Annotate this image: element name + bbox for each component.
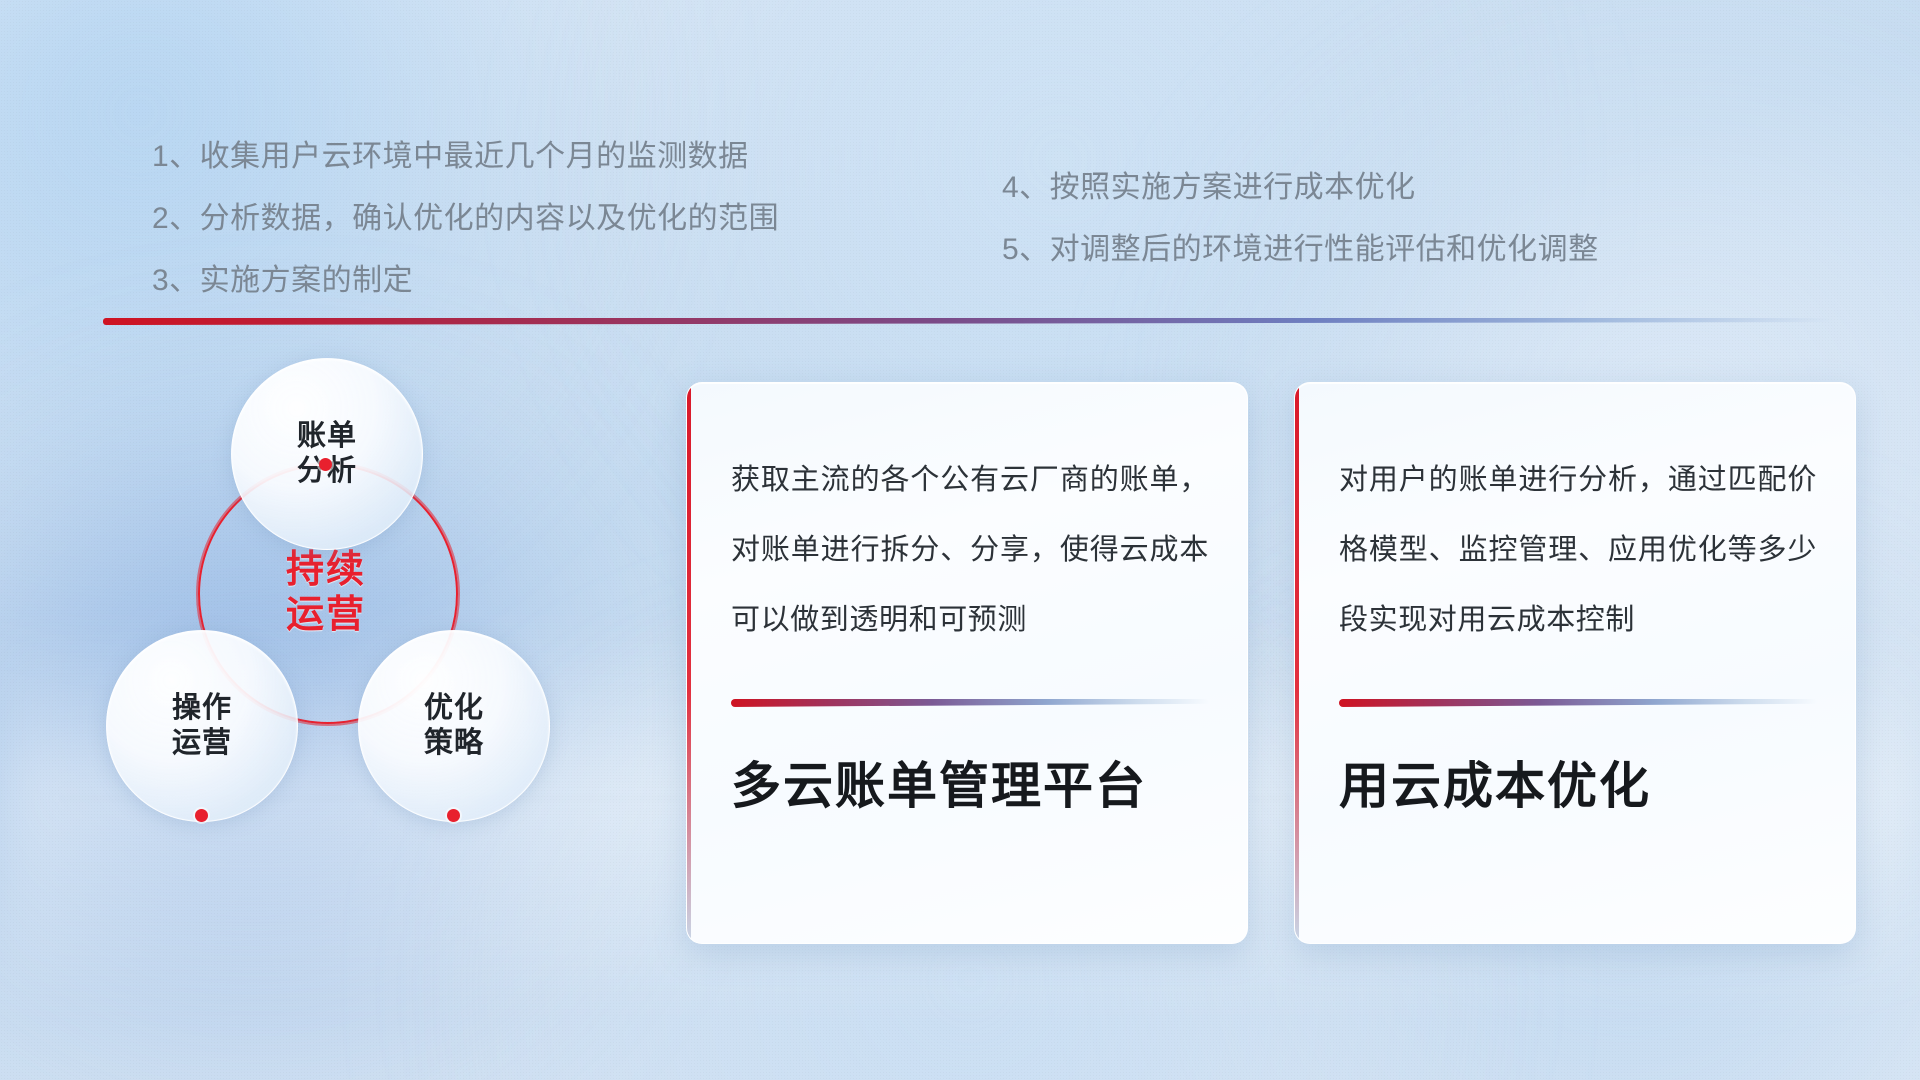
feature-card-cloud-cost-optimization-body: 对用户的账单进行分析，通过匹配价格模型、监控管理、应用优化等多少段实现对用云成本…: [1339, 445, 1817, 656]
process-step-3: 3、实施方案的制定: [152, 255, 413, 299]
feature-card-multicloud-billing-body: 获取主流的各个公有云厂商的账单，对账单进行拆分、分享，使得云成本可以做到透明和可…: [731, 445, 1209, 656]
feature-card-cloud-cost-optimization-title: 用云成本优化: [1339, 755, 1825, 818]
feature-card-multicloud-billing-divider: [731, 699, 1209, 707]
feature-card-multicloud-billing[interactable]: 获取主流的各个公有云厂商的账单，对账单进行拆分、分享，使得云成本可以做到透明和可…: [686, 382, 1248, 944]
process-step-5: 5、对调整后的环境进行性能评估和优化调整: [1002, 224, 1599, 268]
process-step-2: 2、分析数据，确认优化的内容以及优化的范围: [152, 193, 779, 237]
feature-card-cloud-cost-optimization-divider: [1339, 699, 1817, 707]
feature-card-cloud-cost-optimization[interactable]: 对用户的账单进行分析，通过匹配价格模型、监控管理、应用优化等多少段实现对用云成本…: [1294, 382, 1856, 944]
process-step-4: 4、按照实施方案进行成本优化: [1002, 162, 1416, 206]
process-step-1: 1、收集用户云环境中最近几个月的监测数据: [152, 131, 749, 175]
process-steps: 1、收集用户云环境中最近几个月的监测数据 2、分析数据，确认优化的内容以及优化的…: [0, 0, 1920, 300]
feature-cards: 获取主流的各个公有云厂商的账单，对账单进行拆分、分享，使得云成本可以做到透明和可…: [0, 382, 1920, 942]
feature-card-multicloud-billing-title: 多云账单管理平台: [731, 755, 1217, 818]
